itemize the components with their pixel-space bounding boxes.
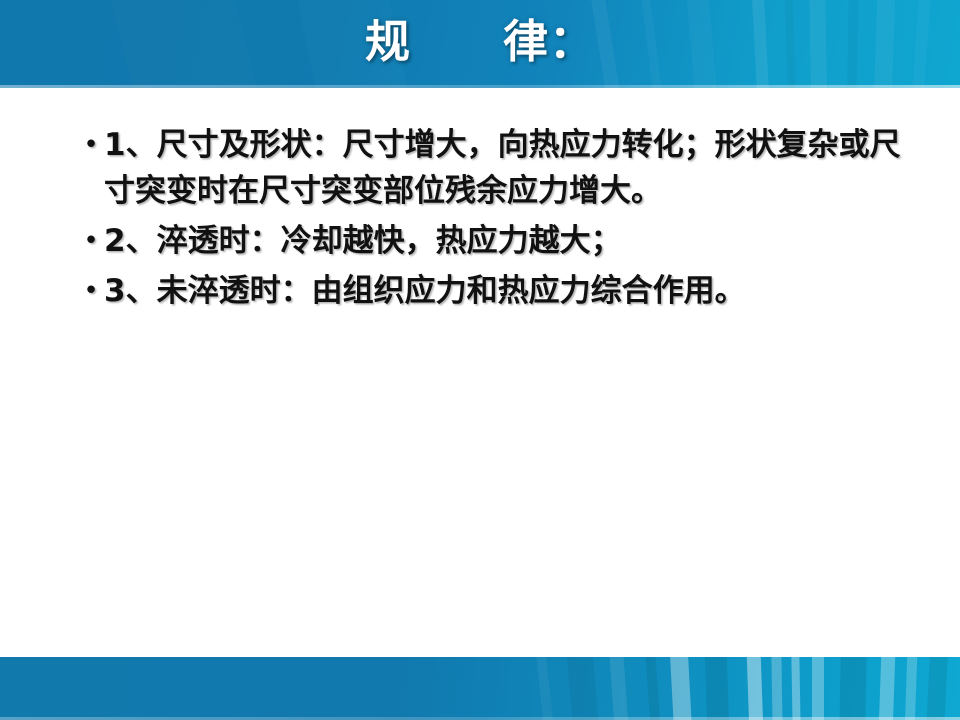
bullet-item: • 1、尺寸及形状：尺寸增大，向热应力转化；形状复杂或尺寸突变时在尺寸突变部位残… [78,122,908,214]
decorative-ray [607,657,630,720]
decorative-ray [925,657,950,720]
decorative-ray [533,657,557,720]
decorative-ray [878,657,897,720]
bullet-text: 3、未淬透时：由组织应力和热应力综合作用。 [104,268,908,314]
bullet-item: • 2、淬透时：冷却越快，热应力越大； [78,218,908,264]
slide-title: 规 律： [0,6,960,78]
slide-body: • 1、尺寸及形状：尺寸增大，向热应力转化；形状复杂或尺寸突变时在尺寸突变部位残… [78,122,908,318]
decorative-ray [791,657,801,720]
decorative-ray [812,657,824,720]
bullet-marker-icon: • [78,122,104,168]
bullet-marker-icon: • [78,268,104,314]
bullet-item: • 3、未淬透时：由组织应力和热应力综合作用。 [78,268,908,314]
decorative-ray [704,657,731,720]
decorative-ray [669,657,694,720]
decorative-ray [904,657,919,720]
decorative-ray [564,657,601,720]
decorative-ray [771,657,783,720]
bullet-text: 1、尺寸及形状：尺寸增大，向热应力转化；形状复杂或尺寸突变时在尺寸突变部位残余应… [104,122,908,214]
bullet-text: 2、淬透时：冷却越快，热应力越大； [104,218,908,264]
bullet-marker-icon: • [78,218,104,264]
slide-footer-band [0,657,960,720]
decorative-ray [643,657,662,720]
decorative-ray [746,657,765,720]
footer-ray-pattern [0,657,960,720]
presentation-slide: 规 律： • 1、尺寸及形状：尺寸增大，向热应力转化；形状复杂或尺寸突变时在尺寸… [0,0,960,720]
decorative-ray [839,657,867,720]
